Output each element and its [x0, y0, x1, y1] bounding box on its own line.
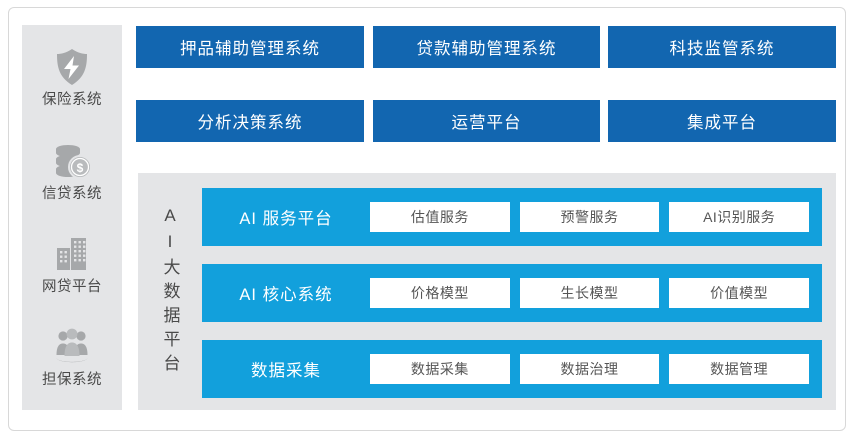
platform-layer-data: 数据采集 数据采集 数据治理 数据管理 [202, 340, 822, 398]
platform-chip[interactable]: 数据治理 [520, 354, 660, 384]
sidebar-item-label: 担保系统 [42, 372, 102, 389]
sidebar-item-label: 信贷系统 [42, 186, 102, 203]
system-bar-loan-management[interactable]: 贷款辅助管理系统 [373, 26, 600, 68]
platform-layer-chips: 估值服务 预警服务 AI识别服务 [370, 202, 822, 232]
sidebar-item-label: 保险系统 [42, 92, 102, 109]
platform-chip[interactable]: 估值服务 [370, 202, 510, 232]
platform-chip[interactable]: 数据采集 [370, 354, 510, 384]
platform-layer-chips: 价格模型 生长模型 价值模型 [370, 278, 822, 308]
diagram-canvas: 保险系统 $ 信贷系统 [0, 0, 857, 444]
platform-chip[interactable]: 价格模型 [370, 278, 510, 308]
coins-dollar-icon: $ [50, 139, 94, 183]
sidebar-item-credit[interactable]: $ 信贷系统 [22, 139, 122, 203]
platform-layer-title: AI 服务平台 [202, 205, 370, 229]
system-bar-label: 分析决策系统 [198, 109, 303, 133]
platform-chip[interactable]: 预警服务 [520, 202, 660, 232]
people-group-icon [50, 325, 94, 369]
system-bar-integration-platform[interactable]: 集成平台 [608, 100, 836, 142]
platform-chip[interactable]: AI识别服务 [669, 202, 809, 232]
system-bar-label: 运营平台 [452, 109, 522, 133]
platform-layer-title: AI 核心系统 [202, 281, 370, 305]
system-bar-label: 贷款辅助管理系统 [417, 35, 557, 59]
shield-bolt-icon [50, 45, 94, 89]
system-bar-tech-supervision[interactable]: 科技监管系统 [608, 26, 836, 68]
platform-layer-chips: 数据采集 数据治理 数据管理 [370, 354, 822, 384]
system-bar-label: 押品辅助管理系统 [180, 35, 320, 59]
platform-layer-title: 数据采集 [202, 357, 370, 381]
sidebar-item-insurance[interactable]: 保险系统 [22, 45, 122, 109]
sidebar: 保险系统 $ 信贷系统 [22, 25, 122, 410]
platform-layer-service: AI 服务平台 估值服务 预警服务 AI识别服务 [202, 188, 822, 246]
sidebar-item-label: 网贷平台 [42, 279, 102, 296]
system-bar-analysis-decision[interactable]: 分析决策系统 [136, 100, 364, 142]
sidebar-item-online-lending[interactable]: 网贷平台 [22, 232, 122, 296]
platform-layer-core: AI 核心系统 价格模型 生长模型 价值模型 [202, 264, 822, 322]
platform-chip[interactable]: 生长模型 [520, 278, 660, 308]
system-bar-collateral-management[interactable]: 押品辅助管理系统 [136, 26, 364, 68]
platform-chip[interactable]: 数据管理 [669, 354, 809, 384]
buildings-icon [50, 232, 94, 276]
platform-vertical-label: AI大数据平台 [146, 182, 194, 401]
platform-vertical-label-text: AI大数据平台 [162, 206, 179, 378]
system-bar-label: 科技监管系统 [670, 35, 775, 59]
sidebar-item-guarantee[interactable]: 担保系统 [22, 325, 122, 389]
svg-text:$: $ [77, 161, 84, 175]
platform-chip[interactable]: 价值模型 [669, 278, 809, 308]
system-bar-label: 集成平台 [687, 109, 757, 133]
system-bar-operation-platform[interactable]: 运营平台 [373, 100, 600, 142]
